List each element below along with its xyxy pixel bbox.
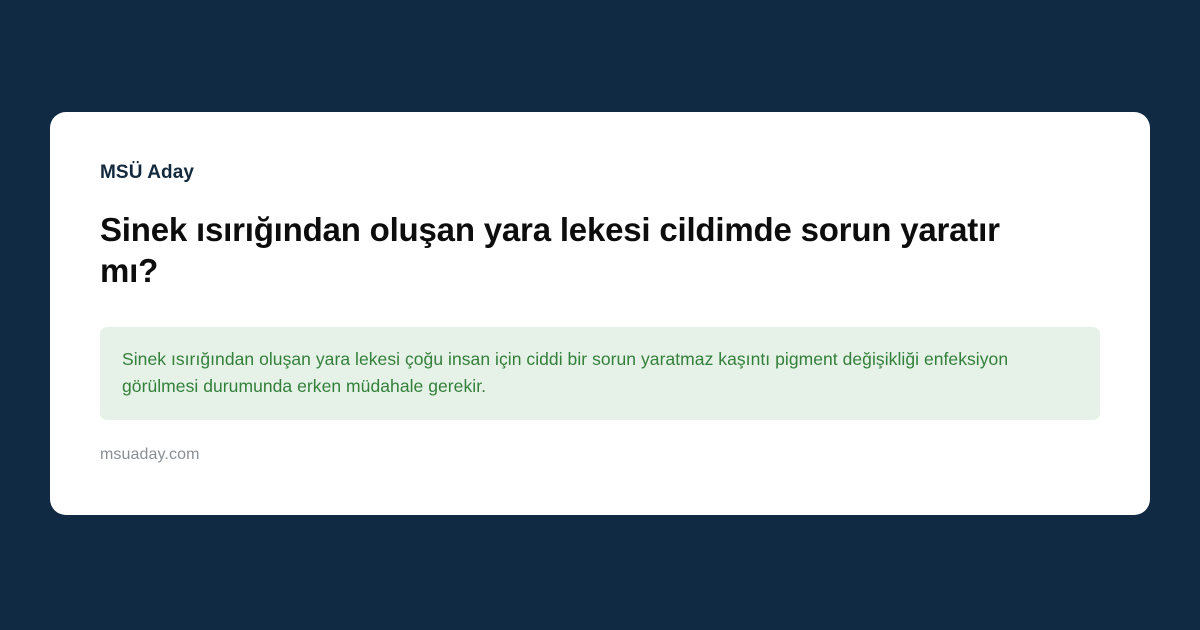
page-title: Sinek ısırığından oluşan yara lekesi cil… [100,209,1050,292]
answer-highlight-box: Sinek ısırığından oluşan yara lekesi çoğ… [100,327,1100,420]
site-url-label: msuaday.com [100,446,1100,464]
content-card: MSÜ Aday Sinek ısırığından oluşan yara l… [50,112,1150,515]
page-canvas: MSÜ Aday Sinek ısırığından oluşan yara l… [0,0,1200,630]
answer-text: Sinek ısırığından oluşan yara lekesi çoğ… [122,346,1078,400]
brand-label: MSÜ Aday [100,162,1100,185]
